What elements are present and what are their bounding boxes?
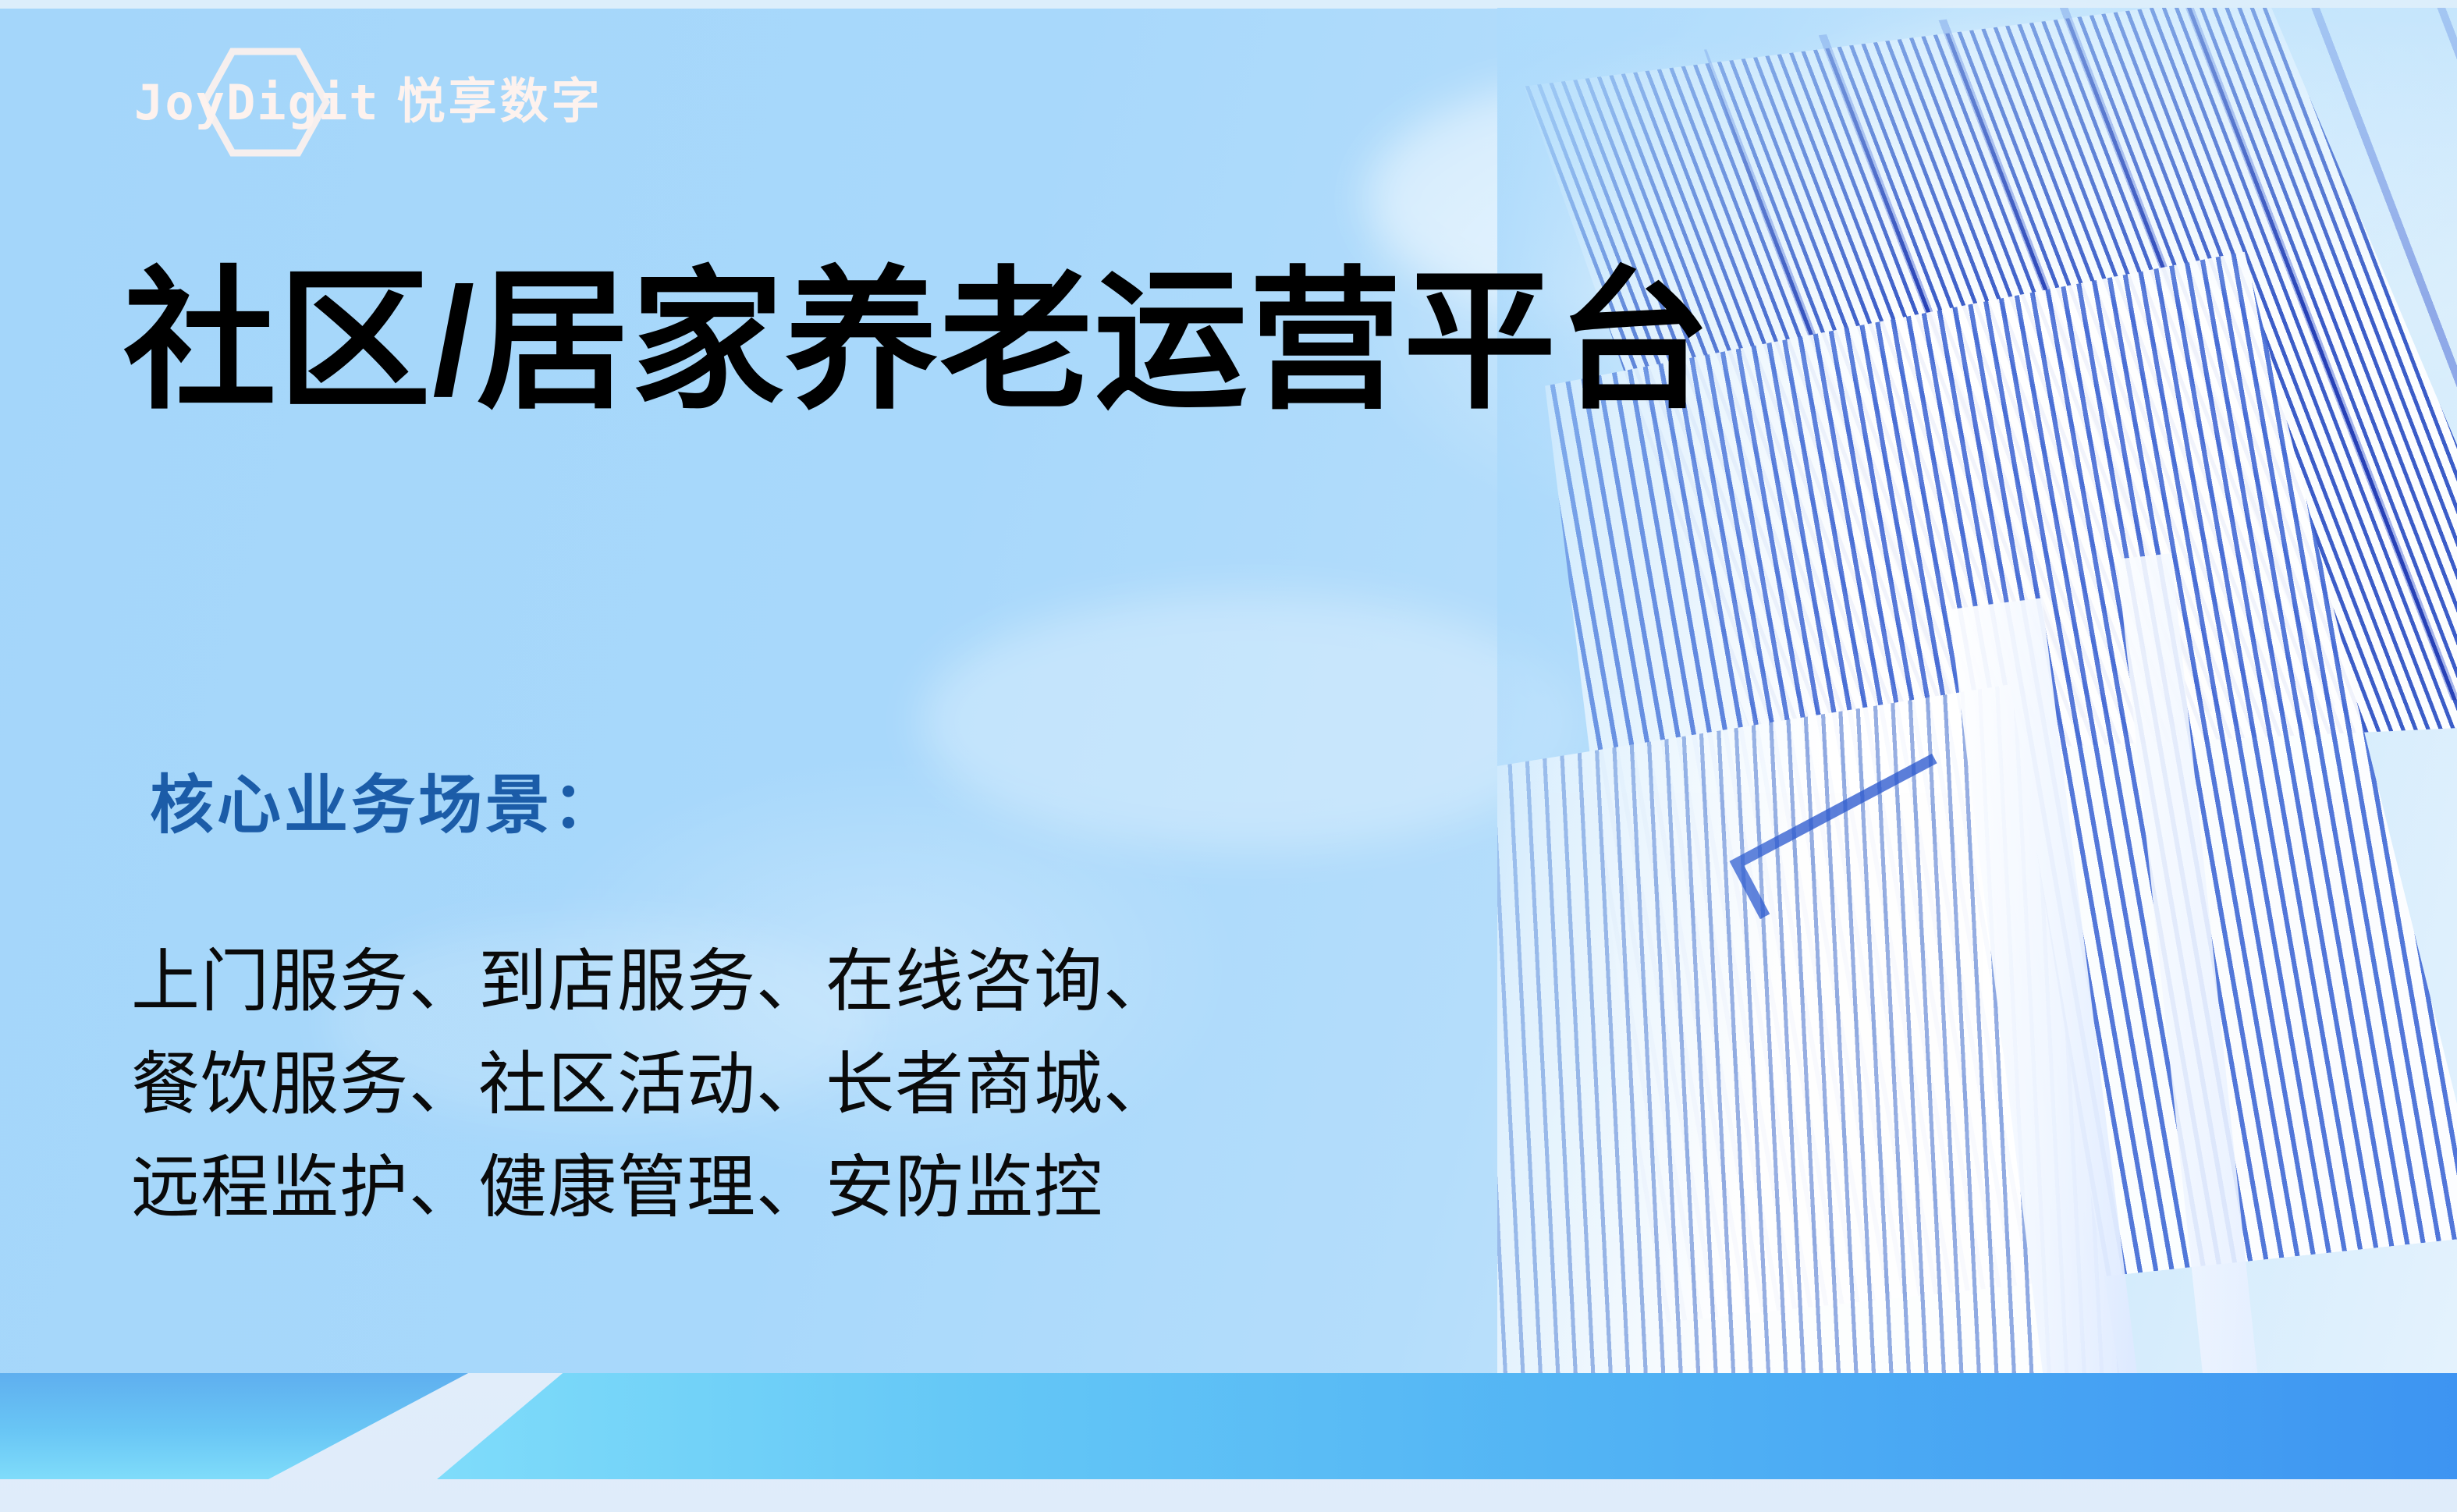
- footer-band-shapes: [0, 1373, 2457, 1512]
- footer-shape-left: [0, 1373, 468, 1479]
- cloud-shape: [921, 593, 1576, 850]
- logo-chinese-name: 悦享数字: [397, 78, 603, 126]
- page-title: 社区/居家养老运营平台: [123, 257, 1712, 426]
- scenario-line: 餐饮服务、社区活动、长者商城、: [131, 1033, 1173, 1136]
- scenario-list: 上门服务、到店服务、在线咨询、 餐饮服务、社区活动、长者商城、 远程监护、健康管…: [131, 930, 1173, 1239]
- logo-wordmark: JoyDigit: [134, 74, 380, 131]
- section-subheading: 核心业务场景：: [150, 771, 620, 841]
- skyscraper-image: [1497, 8, 2457, 1381]
- footer-shape-right: [437, 1373, 2457, 1479]
- slide-canvas: JoyDigit 悦享数字 社区/居家养老运营平台 核心业务场景： 上门服务、到…: [0, 0, 2457, 1512]
- logo-mark: JoyDigit: [134, 69, 380, 136]
- scenario-line: 远程监护、健康管理、安防监控: [131, 1136, 1173, 1239]
- scenario-line: 上门服务、到店服务、在线咨询、: [131, 930, 1173, 1033]
- footer-band: [0, 1373, 2457, 1512]
- brand-logo[interactable]: JoyDigit 悦享数字: [134, 69, 603, 136]
